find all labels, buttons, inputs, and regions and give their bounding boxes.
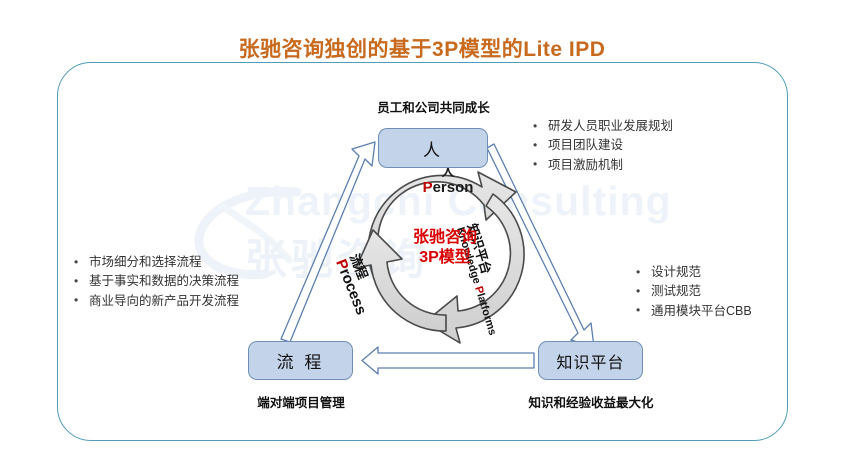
cycle-label-person: 人 Person <box>408 165 488 195</box>
node-platform-label: 知识平台 <box>556 349 624 373</box>
cycle-center-line1: 张驰咨询 <box>382 228 508 248</box>
node-person[interactable]: 人 <box>378 128 488 168</box>
page-title: 张驰咨询独创的基于3P模型的Lite IPD <box>0 33 844 63</box>
diagram-canvas: 张驰咨询独创的基于3P模型的Lite IPD Zhangchi Consulti… <box>0 0 844 471</box>
list-item: 测试规范 <box>634 282 752 301</box>
node-process-label: 流 程 <box>277 348 325 373</box>
caption-platform: 知识和经验收益最大化 <box>500 392 682 411</box>
node-person-label: 人 <box>423 136 443 161</box>
list-item: 基于事实和数据的决策流程 <box>72 272 239 291</box>
list-item: 市场细分和选择流程 <box>72 253 239 272</box>
node-platform[interactable]: 知识平台 <box>538 341 643 380</box>
list-item: 商业导向的新产品开发流程 <box>72 292 239 311</box>
bullet-list-platform: 设计规范 测试规范 通用模块平台CBB <box>634 263 752 321</box>
list-item: 项目激励机制 <box>531 156 673 175</box>
list-item: 通用模块平台CBB <box>634 302 752 321</box>
bullet-list-process: 市场细分和选择流程 基于事实和数据的决策流程 商业导向的新产品开发流程 <box>72 253 239 311</box>
list-item: 研发人员职业发展规划 <box>531 117 673 136</box>
caption-process: 端对端项目管理 <box>228 392 374 411</box>
list-item: 设计规范 <box>634 263 752 282</box>
bullet-list-person: 研发人员职业发展规划 项目团队建设 项目激励机制 <box>531 117 673 175</box>
three-p-cycle: 人 Person 知识平台 Knowledge Platforms 流程 Pro… <box>330 160 560 350</box>
cycle-label-person-en: Person <box>408 180 488 196</box>
cycle-center-line2: 3P模型 <box>382 248 508 268</box>
caption-person: 员工和公司共同成长 <box>356 97 511 116</box>
cycle-center-label: 张驰咨询 3P模型 <box>382 228 508 267</box>
list-item: 项目团队建设 <box>531 136 673 155</box>
node-process[interactable]: 流 程 <box>248 341 353 380</box>
